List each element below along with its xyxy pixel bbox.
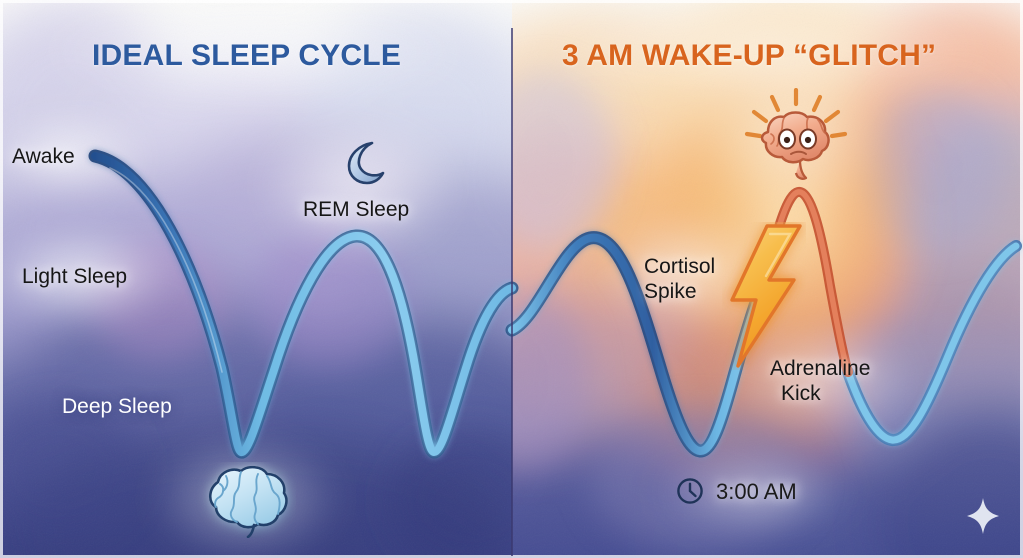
clock-icon bbox=[676, 477, 704, 505]
label-light-sleep: Light Sleep bbox=[22, 265, 127, 289]
lightning-bolt-icon bbox=[722, 222, 806, 370]
page-title-right: 3 AM WAKE-UP “GLITCH” bbox=[562, 39, 936, 73]
infographic-canvas: IDEAL SLEEP CYCLE 3 AM WAKE-UP “GLITCH” … bbox=[0, 0, 1023, 558]
alarmed-brain-icon bbox=[744, 88, 848, 184]
label-cortisol-spike-line2: Spike bbox=[644, 280, 697, 304]
label-deep-sleep: Deep Sleep bbox=[62, 395, 172, 419]
label-adrenaline-kick-line2: Kick bbox=[781, 382, 821, 406]
sleep-cycle-waves bbox=[0, 0, 1023, 558]
label-wake-time: 3:00 AM bbox=[716, 479, 797, 505]
label-awake: Awake bbox=[12, 145, 75, 169]
label-cortisol-spike-line1: Cortisol bbox=[644, 255, 715, 279]
sparkle-icon bbox=[966, 497, 1000, 535]
page-title-left: IDEAL SLEEP CYCLE bbox=[92, 39, 401, 73]
calm-brain-icon bbox=[196, 462, 296, 538]
crescent-moon-icon bbox=[340, 138, 388, 186]
label-rem-sleep: REM Sleep bbox=[303, 198, 409, 222]
